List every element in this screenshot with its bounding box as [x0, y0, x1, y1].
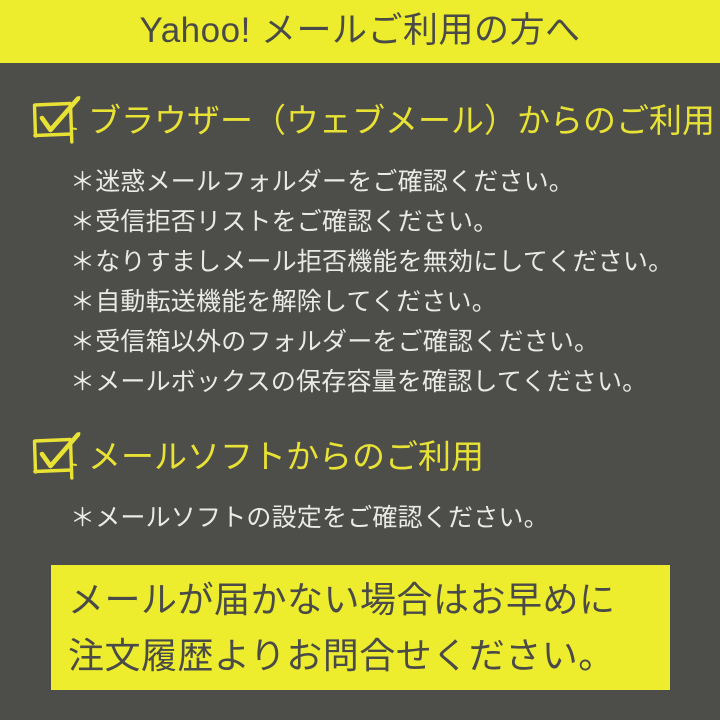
list-item: ＊迷惑メールフォルダーをご確認ください。 [70, 162, 673, 202]
checklist-mail-software: ＊メールソフトの設定をご確認ください。 [70, 498, 549, 538]
callout-line: メールが届かない場合はお早めに [68, 572, 616, 628]
page-title: Yahoo! メールご利用の方へ [139, 13, 580, 48]
list-item: ＊メールソフトの設定をご確認ください。 [70, 498, 549, 538]
checklist-browser: ＊迷惑メールフォルダーをご確認ください。 ＊受信拒否リストをご確認ください。 ＊… [70, 162, 673, 402]
notice-page: Yahoo! メールご利用の方へ ブラウザー（ウェブメール）か [0, 0, 720, 720]
checked-checkbox-icon [26, 428, 86, 484]
callout-line: 注文履歴よりお問合せください。 [68, 628, 615, 684]
list-item: ＊自動転送機能を解除してください。 [70, 282, 673, 322]
list-item: ＊なりすましメール拒否機能を無効にしてください。 [70, 242, 673, 282]
contact-callout-box: メールが届かない場合はお早めに 注文履歴よりお問合せください。 [51, 565, 670, 690]
checked-checkbox-icon [26, 92, 86, 148]
section-heading-browser: ブラウザー（ウェブメール）からのご利用 [26, 92, 715, 148]
list-item: ＊受信拒否リストをご確認ください。 [70, 202, 673, 242]
list-item: ＊メールボックスの保存容量を確認してください。 [70, 362, 673, 402]
section-heading-mail-software: メールソフトからのご利用 [26, 428, 484, 484]
section-title-text: メールソフトからのご利用 [88, 440, 484, 473]
page-banner: Yahoo! メールご利用の方へ [0, 0, 720, 63]
section-title-text: ブラウザー（ウェブメール）からのご利用 [88, 104, 715, 137]
list-item: ＊受信箱以外のフォルダーをご確認ください。 [70, 322, 673, 362]
